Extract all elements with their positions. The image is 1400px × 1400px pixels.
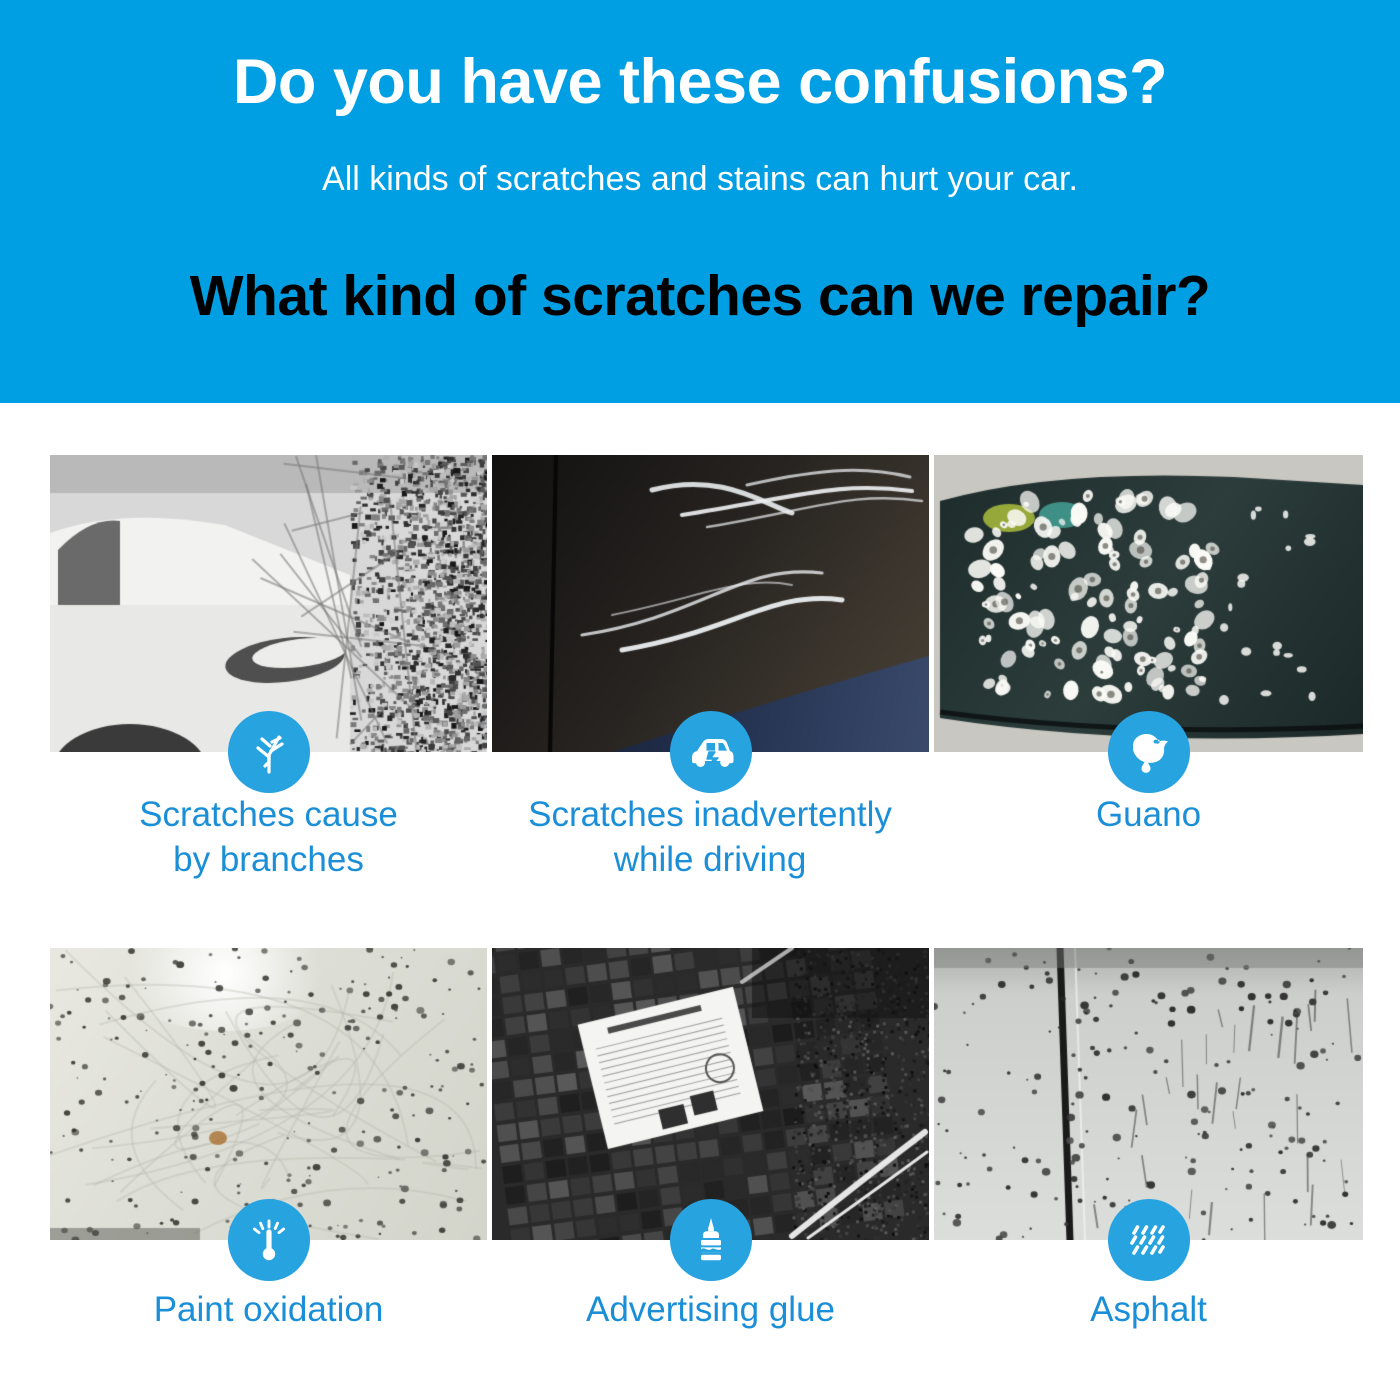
scratch-type-grid: Scratches cause by branches Scratches in… [0,403,1400,1400]
bird-droplet-icon [1108,711,1190,793]
caption-guano: Guano [934,793,1363,838]
photo-scratches-driving [492,455,929,752]
grid-card-advertising-glue[interactable] [492,948,929,1240]
caption-scratches-driving: Scratches inadvertently while driving [470,793,950,883]
photo-asphalt [934,948,1363,1240]
photo-advertising-glue [492,948,929,1240]
photo-paint-oxidation [50,948,487,1240]
glue-bottle-icon [670,1199,752,1281]
grid-card-asphalt[interactable] [934,948,1363,1240]
caption-asphalt: Asphalt [934,1288,1363,1333]
photo-scratches-branches [50,455,487,752]
caption-scratches-branches: Scratches cause by branches [50,793,487,883]
grid-card-guano[interactable] [934,455,1363,752]
grid-card-paint-oxidation[interactable] [50,948,487,1240]
car-scratch-icon [670,711,752,793]
hatch-pattern-icon [1108,1199,1190,1281]
branch-icon [228,711,310,793]
caption-advertising-glue: Advertising glue [492,1288,929,1333]
page-subtitle: All kinds of scratches and stains can hu… [0,160,1400,199]
header-banner: Do you have these confusions? All kinds … [0,0,1400,403]
thermometer-icon [228,1199,310,1281]
grid-card-scratches-branches[interactable] [50,455,487,752]
caption-paint-oxidation: Paint oxidation [50,1288,487,1333]
photo-guano [934,455,1363,752]
page-title: Do you have these confusions? [0,48,1400,117]
grid-card-scratches-driving[interactable] [492,455,929,752]
page-question-heading: What kind of scratches can we repair? [0,265,1400,328]
